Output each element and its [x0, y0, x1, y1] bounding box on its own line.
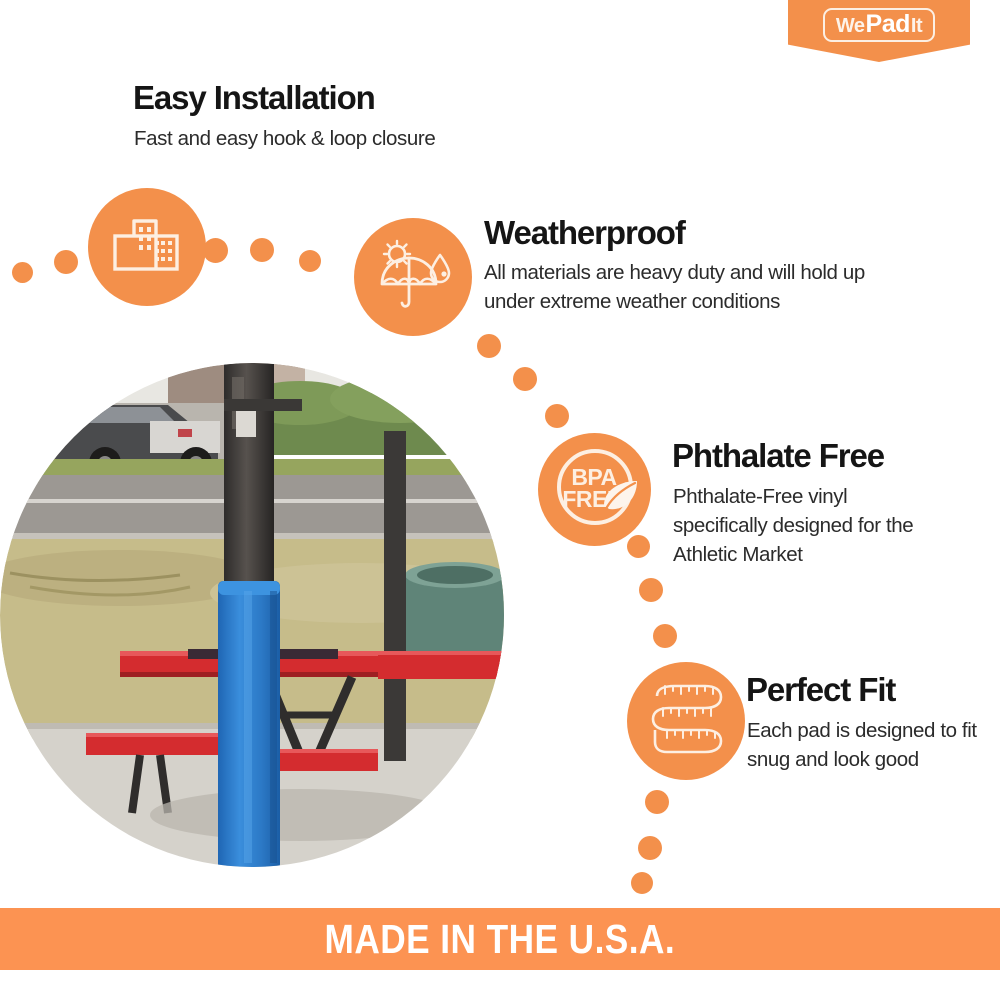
logo-wordmark: We Pad It [823, 8, 935, 42]
infographic-page: We Pad It [0, 0, 1000, 987]
trail-dot [54, 250, 78, 274]
brand-logo: We Pad It [788, 0, 970, 62]
trail-dot [203, 238, 228, 263]
feature-icon-phthalate-free: BPA FREE [538, 433, 651, 546]
trail-dot [477, 334, 501, 358]
umbrella-sun-rain-icon [374, 239, 452, 316]
trail-dot [639, 578, 663, 602]
building-icon [112, 214, 182, 281]
trail-dot [545, 404, 569, 428]
feature-icon-weatherproof [354, 218, 472, 336]
feature-body-weatherproof: All materials are heavy duty and will ho… [484, 258, 914, 316]
trail-dot [638, 836, 662, 860]
product-photo [0, 363, 505, 868]
logo-text-we: We [836, 16, 865, 36]
feature-icon-perfect-fit [627, 662, 745, 780]
trail-dot [299, 250, 321, 272]
trail-dot [653, 624, 677, 648]
made-in-usa-text: MADE IN THE U.S.A. [325, 916, 676, 963]
trail-dot [513, 367, 537, 391]
feature-body-perfect-fit: Each pad is designed to fit snug and loo… [747, 716, 982, 774]
feature-title-weatherproof: Weatherproof [484, 215, 685, 251]
logo-text-pad: Pad [866, 12, 910, 37]
trail-dot [250, 238, 274, 262]
feature-title-easy-installation: Easy Installation [133, 80, 375, 116]
feature-title-perfect-fit: Perfect Fit [746, 672, 895, 708]
bpa-free-leaf-icon: BPA FREE [545, 437, 645, 542]
feature-title-phthalate-free: Phthalate Free [672, 438, 884, 474]
feature-body-easy-installation: Fast and easy hook & loop closure [134, 124, 435, 153]
logo-text-it: It [911, 16, 922, 36]
trail-dot [12, 262, 33, 283]
made-in-usa-banner: MADE IN THE U.S.A. [0, 908, 1000, 970]
feature-body-phthalate-free: Phthalate-Free vinyl specifically design… [673, 482, 943, 569]
feature-icon-easy-installation [88, 188, 206, 306]
trail-dot [645, 790, 669, 814]
measuring-tape-icon [643, 678, 729, 765]
trail-dot [631, 872, 653, 894]
